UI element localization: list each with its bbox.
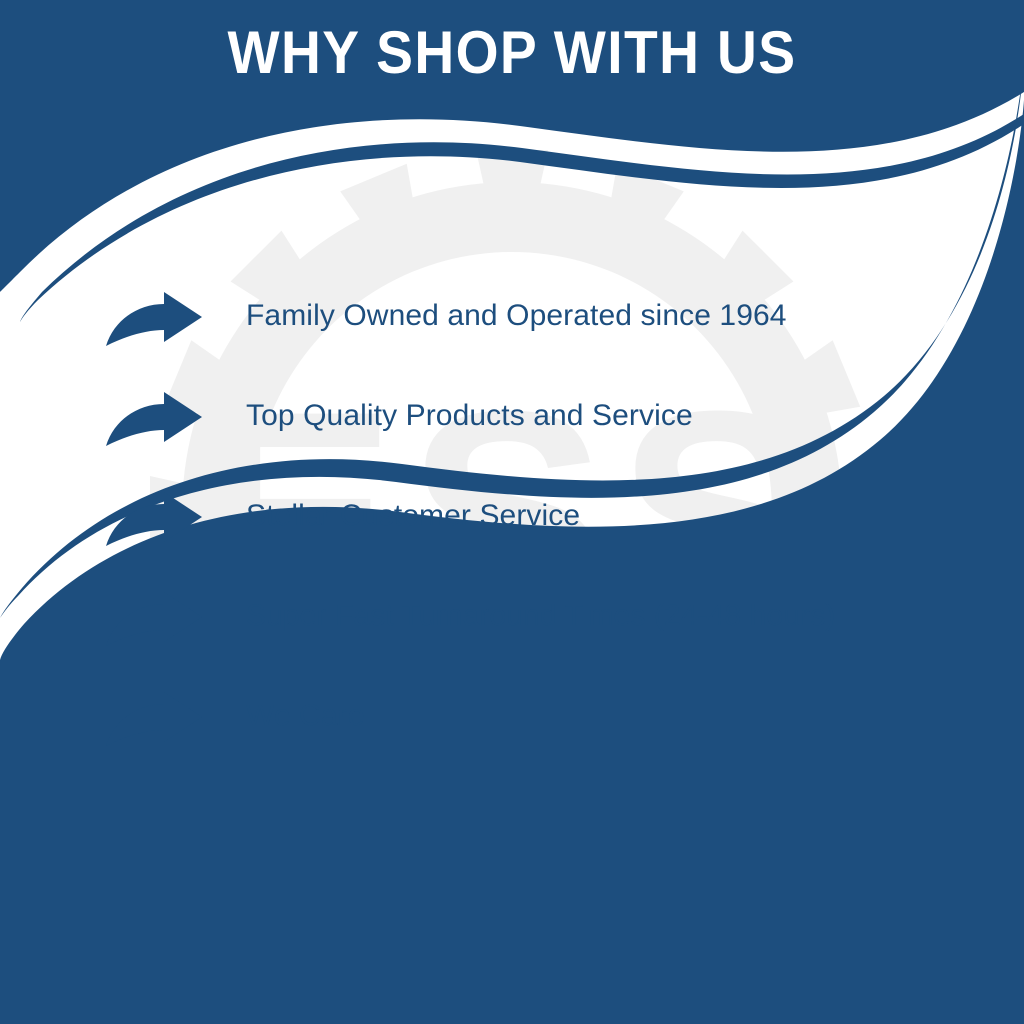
curved-arrow-right-icon xyxy=(104,490,204,552)
curved-arrow-right-icon xyxy=(104,390,204,452)
list-item: Super Fast Turnaround Times (24-48 hours… xyxy=(104,586,984,686)
list-item: Family Owned and Operated since 1964 xyxy=(104,286,984,386)
page-title: WHY SHOP WITH US xyxy=(41,22,983,84)
list-item-label: Family Owned and Operated since 1964 xyxy=(246,298,984,334)
why-shop-with-us-poster: ESS WHY SHOP WITH US Family Owned and Op… xyxy=(0,0,1024,1024)
list-item: Top Quality Products and Service xyxy=(104,386,984,486)
list-item-label: Super Fast Turnaround Times (24-48 hours… xyxy=(246,598,984,634)
list-item-label: Top Quality Products and Service xyxy=(246,398,984,434)
list-item: Stellar Customer Service xyxy=(104,486,984,586)
curved-arrow-right-icon xyxy=(104,690,204,752)
benefits-list: Family Owned and Operated since 1964 Top… xyxy=(104,286,984,786)
curved-arrow-right-icon xyxy=(104,590,204,652)
list-item-label: Stellar Customer Service xyxy=(246,498,984,534)
curved-arrow-right-icon xyxy=(104,290,204,352)
list-item-label: We Care xyxy=(246,698,984,734)
list-item: We Care xyxy=(104,686,984,786)
